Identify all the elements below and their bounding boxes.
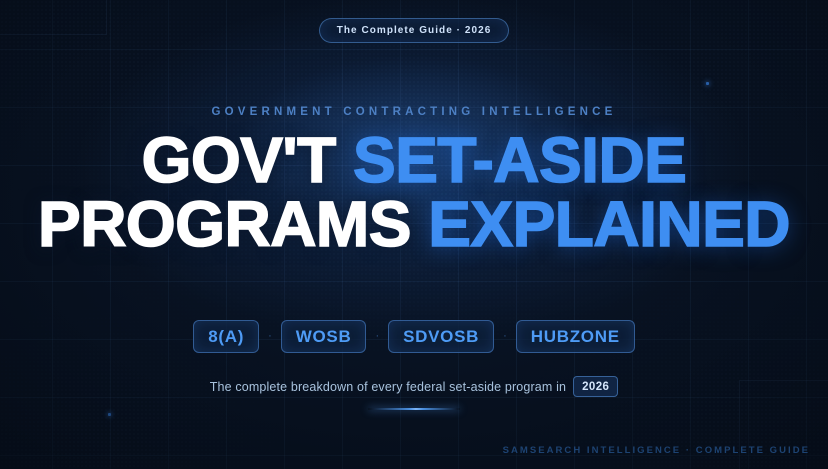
badge-separator-icon: ·: [366, 331, 388, 342]
program-badge-8a[interactable]: 8(A): [193, 320, 259, 353]
badge-separator-icon: ·: [259, 331, 281, 342]
page-title: GOV'T SET-ASIDE PROGRAMS EXPLAINED: [38, 133, 790, 252]
hero-content: The Complete Guide · 2026 GOVERNMENT CON…: [0, 0, 828, 469]
top-badge[interactable]: The Complete Guide · 2026: [319, 18, 510, 43]
badge-separator-icon: ·: [494, 331, 516, 342]
program-badge-sdvosb[interactable]: SDVOSB: [388, 320, 494, 353]
headline-line-1: GOV'T SET-ASIDE: [38, 133, 790, 189]
subtitle-text: The complete breakdown of every federal …: [210, 380, 566, 394]
program-badge-hubzone[interactable]: HUBZONE: [516, 320, 635, 353]
headline-word-white: PROGRAMS: [38, 188, 411, 260]
headline-word-accent: EXPLAINED: [428, 188, 790, 260]
headline-space: [411, 188, 428, 260]
subtitle: The complete breakdown of every federal …: [210, 376, 619, 397]
program-badge-wosb[interactable]: WOSB: [281, 320, 367, 353]
subtitle-year-chip: 2026: [573, 376, 618, 397]
eyebrow-text: GOVERNMENT CONTRACTING INTELLIGENCE: [211, 106, 616, 118]
hero-slide: The Complete Guide · 2026 GOVERNMENT CON…: [0, 0, 828, 469]
accent-divider: [368, 408, 460, 410]
headline-word-accent: SET-ASIDE: [353, 124, 686, 196]
headline-space: [336, 124, 353, 196]
program-badge-list: 8(A) · WOSB · SDVOSB · HUBZONE: [193, 320, 635, 353]
headline-word-white: GOV'T: [142, 124, 336, 196]
footer-label: SAMSEARCH INTELLIGENCE · COMPLETE GUIDE: [503, 445, 810, 456]
headline-line-2: PROGRAMS EXPLAINED: [38, 197, 790, 253]
top-badge-label: The Complete Guide · 2026: [337, 25, 492, 36]
